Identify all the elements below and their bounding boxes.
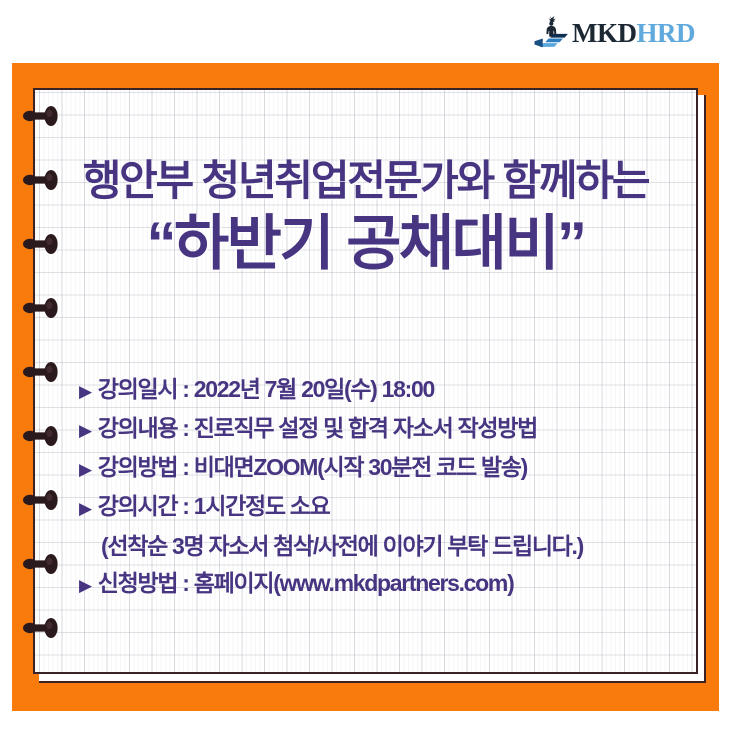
detail-row: ▶신청방법 : 홈페이지(www.mkdpartners.com) xyxy=(79,565,689,604)
bullet-arrow-icon: ▶ xyxy=(79,452,91,488)
detail-text: 신청방법 : 홈페이지(www.mkdpartners.com) xyxy=(98,565,514,601)
detail-row: ▶강의내용 : 진로직무 설정 및 합격 자소서 작성방법 xyxy=(79,410,689,449)
poster-details-list: ▶강의일시 : 2022년 7월 20일(수) 18:00▶강의내용 : 진로직… xyxy=(79,371,689,604)
logo-header: MKDHRD xyxy=(0,0,731,63)
bullet-arrow-icon: ▶ xyxy=(79,374,91,410)
bullet-arrow-icon: ▶ xyxy=(79,568,91,604)
person-on-steps-icon xyxy=(532,15,570,51)
detail-row: (선착순 3명 자소서 첨삭/사전에 이야기 부탁 드립니다.) xyxy=(79,527,689,565)
logo-secondary-text: HRD xyxy=(637,18,696,48)
detail-text: 강의방법 : 비대면ZOOM(시작 30분전 코드 발송) xyxy=(98,449,527,485)
poster-content: 행안부 청년취업전문가와 함께하는 “하반기 공채대비” ▶강의일시 : 202… xyxy=(33,88,698,674)
detail-text: 강의내용 : 진로직무 설정 및 합격 자소서 작성방법 xyxy=(98,410,537,446)
detail-row: ▶강의방법 : 비대면ZOOM(시작 30분전 코드 발송) xyxy=(79,449,689,488)
poster-title-line-1: 행안부 청년취업전문가와 함께하는 xyxy=(33,160,698,202)
detail-row: ▶강의일시 : 2022년 7월 20일(수) 18:00 xyxy=(79,371,689,410)
detail-text: 강의시간 : 1시간정도 소요 xyxy=(98,488,330,524)
detail-row: ▶강의시간 : 1시간정도 소요 xyxy=(79,488,689,527)
brand-logo: MKDHRD xyxy=(532,14,695,52)
logo-primary-text: MKD xyxy=(572,18,636,48)
detail-text: (선착순 3명 자소서 첨삭/사전에 이야기 부탁 드립니다.) xyxy=(101,527,583,565)
bullet-arrow-icon: ▶ xyxy=(79,413,91,449)
poster-title-line-2: “하반기 공채대비” xyxy=(33,214,698,274)
bullet-arrow-icon: ▶ xyxy=(79,491,91,527)
poster-title-block: 행안부 청년취업전문가와 함께하는 “하반기 공채대비” xyxy=(33,160,698,274)
detail-text: 강의일시 : 2022년 7월 20일(수) 18:00 xyxy=(98,371,434,407)
